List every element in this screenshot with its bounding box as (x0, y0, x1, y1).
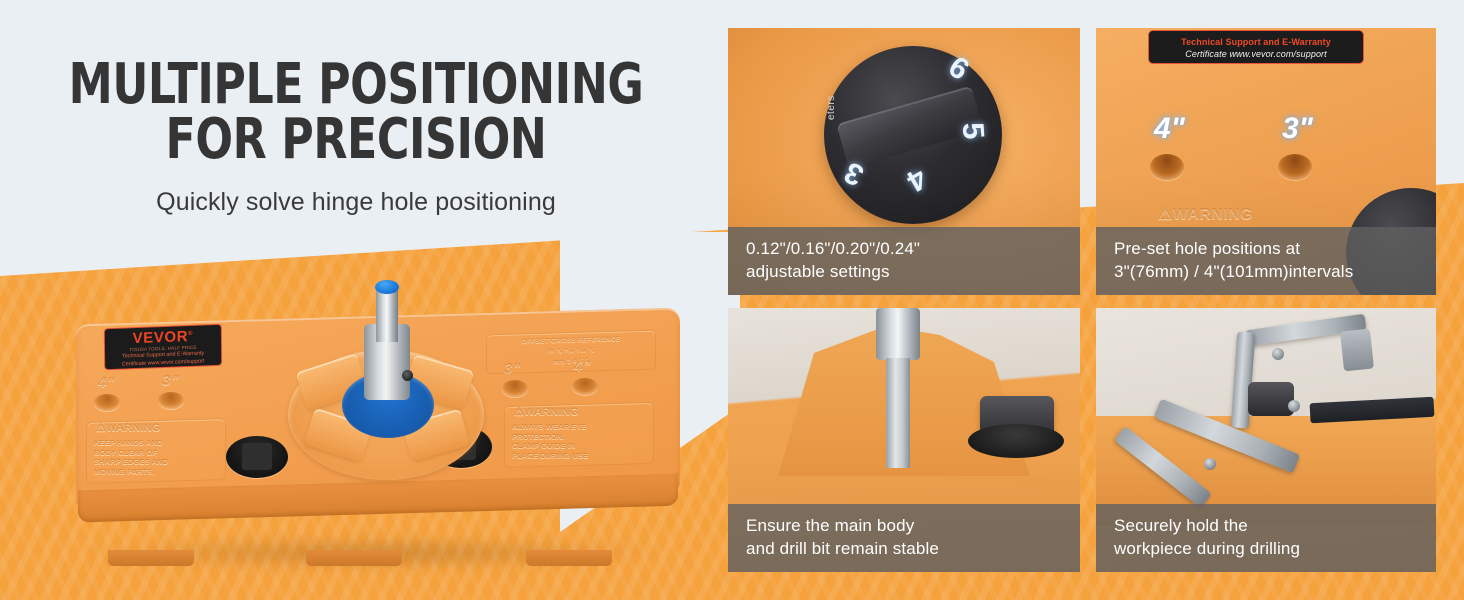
dial-number-6: 6 (942, 50, 975, 88)
drill-bit-shaft (376, 288, 398, 342)
preset-hole (1150, 154, 1184, 180)
warning-left-title: ⚠WARNING (96, 424, 161, 434)
bolt (1272, 348, 1284, 360)
panel-caption-preset-positions: Pre-set hole positions at 3"(76mm) / 4"(… (1096, 227, 1436, 295)
reference-row-mm: mm 3 4 5 6 (487, 356, 655, 368)
certificate-line-1: Technical Support and E-Warranty (1149, 36, 1363, 48)
preset-hole (572, 378, 598, 395)
preset-hole (158, 392, 184, 409)
dial-number-5: 5 (955, 121, 990, 140)
preset-hole (1278, 154, 1312, 180)
marking-4-inch: 4" (1154, 112, 1185, 146)
drill-bit-blue-cap (375, 280, 399, 294)
dial-number-4: 4 (901, 160, 932, 198)
jig-foot (108, 550, 194, 566)
headline-block: MULTIPLE POSITIONING FOR PRECISION Quick… (0, 58, 712, 217)
marketing-banner: MULTIPLE POSITIONING FOR PRECISION Quick… (0, 0, 1464, 600)
hero-product-image: VEVOR® TOUGH TOOLS, HALF PRICE Technical… (56, 276, 696, 572)
feature-panel-preset-hole-positions[interactable]: Technical Support and E-Warranty Certifi… (1096, 28, 1436, 295)
black-knob (1248, 382, 1294, 416)
panel-caption-adjustable-settings: 0.12"/0.16"/0.20"/0.24" adjustable setti… (728, 227, 1080, 295)
jig-foot (526, 550, 612, 566)
preset-hole (94, 394, 120, 411)
panel-caption-secure-hold: Securely hold the workpiece during drill… (1096, 504, 1436, 572)
marking-3-inch: 3" (1282, 112, 1313, 146)
bolt (1288, 400, 1300, 412)
cam-port (226, 436, 288, 478)
preset-hole (502, 380, 528, 397)
page-subtitle: Quickly solve hinge hole positioning (26, 188, 686, 217)
offset-reference-plate: OFFSET CROSS REFERENCE in ⅛ ³⁄₁₆ ¹⁄₁₆ ¼ … (486, 330, 656, 375)
depth-adjustment-dial[interactable]: 6 5 4 3 eters (824, 46, 1002, 224)
feature-panel-drill-bit-stability[interactable]: Ensure the main body and drill bit remai… (728, 308, 1080, 572)
dial-number-3: 3 (839, 154, 869, 192)
jig-foot (306, 550, 402, 566)
embossed-text (742, 34, 746, 51)
warning-right-body: ALWAYS WEAR EYE PROTECTION. CLAMP GUIDE … (512, 422, 588, 460)
page-title: MULTIPLE POSITIONING FOR PRECISION (66, 58, 647, 168)
bolt (1204, 458, 1216, 470)
reference-row-inches: in ⅛ ³⁄₁₆ ¹⁄₁₆ ¼ (487, 345, 655, 357)
clamp-pad (1340, 329, 1374, 372)
certificate-badge: Technical Support and E-Warranty Certifi… (1148, 30, 1364, 64)
vevor-logo-badge: VEVOR® TOUGH TOOLS, HALF PRICE Technical… (104, 324, 222, 371)
bore-hole (968, 424, 1064, 458)
drill-bit (886, 358, 910, 468)
warning-right-title: ⚠WARNING (514, 408, 579, 418)
set-screw (402, 370, 413, 381)
warning-left-body: KEEP HANDS AND BODY CLEAR OF SHARP EDGES… (94, 438, 168, 476)
dial-side-label: eters (826, 95, 837, 120)
warning-label: ⚠WARNING (1158, 204, 1253, 224)
feature-panel-workpiece-clamp[interactable]: Securely hold the workpiece during drill… (1096, 308, 1436, 572)
drill-guide-collar (876, 308, 920, 360)
panel-caption-stability: Ensure the main body and drill bit remai… (728, 504, 1080, 572)
feature-panel-adjustable-depth-dial[interactable]: 6 5 4 3 eters 0.12"/0.16"/0.20"/0.24" ad… (728, 28, 1080, 295)
certificate-line-2: Certificate www.vevor.com/support (1149, 48, 1363, 60)
